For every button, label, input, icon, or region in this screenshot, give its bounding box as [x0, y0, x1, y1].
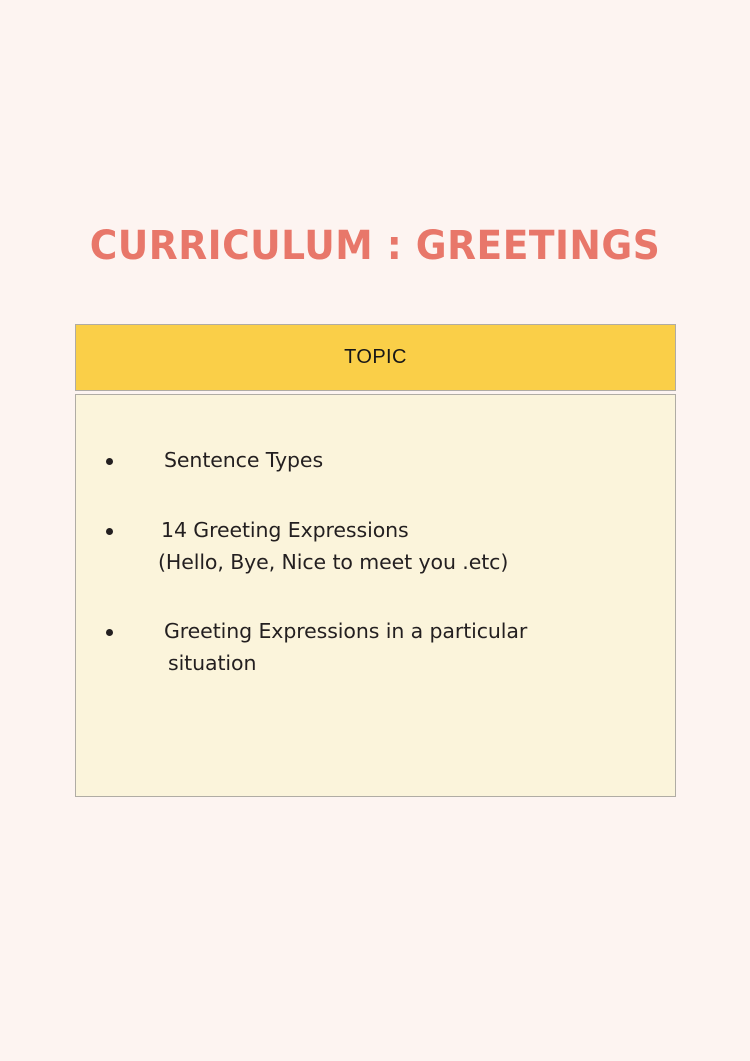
list-item-subtext: situation — [168, 648, 655, 680]
list-item-text: Greeting Expressions in a particular — [164, 619, 527, 643]
topic-table: TOPIC Sentence Types 14 Greeting Express… — [75, 324, 676, 797]
table-header-row: TOPIC — [75, 324, 676, 391]
table-body-cell: Sentence Types 14 Greeting Expressions (… — [75, 394, 676, 797]
table-header-label: TOPIC — [344, 346, 407, 369]
topic-bullet-list: Sentence Types 14 Greeting Expressions (… — [106, 445, 655, 680]
list-item: Sentence Types — [106, 445, 655, 477]
page-title: CURRICULUM : GREETINGS — [23, 223, 728, 269]
list-item-text: 14 Greeting Expressions — [161, 518, 409, 542]
list-item: 14 Greeting Expressions (Hello, Bye, Nic… — [106, 515, 655, 579]
list-item: Greeting Expressions in a particular sit… — [106, 616, 655, 680]
list-item-text: Sentence Types — [164, 448, 323, 472]
slide-page: CURRICULUM : GREETINGS TOPIC Sentence Ty… — [0, 0, 750, 1061]
list-item-subtext: (Hello, Bye, Nice to meet you .etc) — [158, 547, 655, 579]
